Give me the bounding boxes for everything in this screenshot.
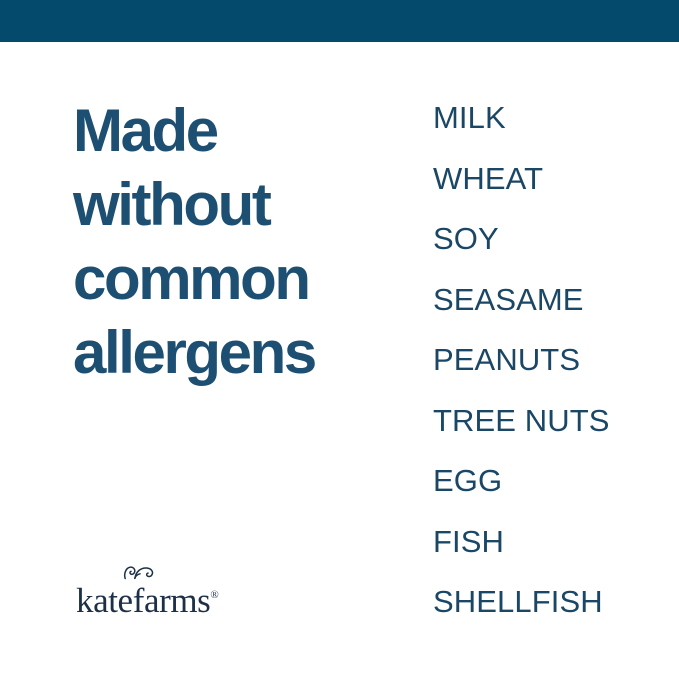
headline-line-2: without [73,168,403,242]
list-item: TREE NUTS [433,403,653,464]
headline-line-4: allergens [73,316,403,390]
list-item: SHELLFISH [433,584,653,645]
allergen-list: MILK WHEAT SOY SEASAME PEANUTS TREE NUTS… [433,100,653,645]
brand-wordmark: katefarms® [76,577,219,619]
page-title: Made without common allergens [73,94,403,390]
brand-wordmark-text: katefarms [76,581,210,620]
headline-line-1: Made [73,94,403,168]
headline-line-3: common [73,242,403,316]
list-item: PEANUTS [433,342,653,403]
allergen-info-poster: Made without common allergens MILK WHEAT… [0,0,679,679]
list-item: EGG [433,463,653,524]
top-accent-bar [0,0,679,42]
list-item: SOY [433,221,653,282]
list-item: MILK [433,100,653,161]
registered-trademark-icon: ® [210,589,218,601]
poster-content: Made without common allergens MILK WHEAT… [0,42,679,679]
list-item: SEASAME [433,282,653,343]
list-item: WHEAT [433,161,653,222]
brand-logo: katefarms® [76,565,246,613]
list-item: FISH [433,524,653,585]
